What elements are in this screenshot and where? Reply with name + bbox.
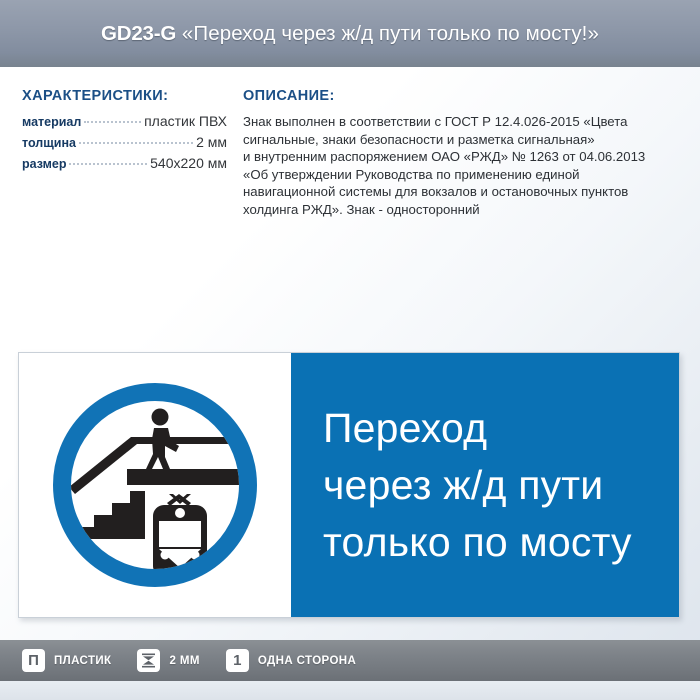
train-left-light <box>161 551 170 560</box>
train-windshield <box>159 521 201 547</box>
characteristic-value: 2 мм <box>196 134 227 150</box>
pedestrian-bridge-over-railway-icon <box>19 353 291 617</box>
bridge-rail <box>131 437 239 444</box>
footer-label-sides: ОДНА СТОРОНА <box>258 655 356 667</box>
one-side-icon: 1 <box>226 649 249 672</box>
person-body <box>146 428 179 469</box>
characteristics-section: ХАРАКТЕРИСТИКИ: материал пластик ПВХ тол… <box>22 88 227 176</box>
description-line: Знак выполнен в соответствии с ГОСТ Р 12… <box>243 113 683 131</box>
characteristic-label: толщина <box>22 136 76 150</box>
sign-preview: Переход через ж/д пути только по мосту <box>18 352 680 618</box>
product-code: GD23-G <box>101 22 176 45</box>
bridge-deck <box>127 469 239 485</box>
header-title-group: GD23-G «Переход через ж/д пути только по… <box>101 22 599 46</box>
characteristic-row-thickness: толщина 2 мм <box>22 134 227 150</box>
description-section: ОПИСАНИЕ: Знак выполнен в соответствии с… <box>243 88 683 219</box>
characteristic-value: пластик ПВХ <box>144 113 227 129</box>
sign-pictogram-area <box>19 353 291 617</box>
product-card: GD23-G «Переход через ж/д пути только по… <box>0 0 700 700</box>
description-line: холдинга РЖД». Знак - односторонний <box>243 201 683 219</box>
footer-item-sides: 1 ОДНА СТОРОНА <box>226 649 356 672</box>
one-side-icon-glyph: 1 <box>233 653 241 668</box>
footer-bottom-strip <box>0 681 700 700</box>
characteristic-label: материал <box>22 115 81 129</box>
footer-spec-bar: П ПЛАСТИК 2 ММ 1 ОДНА СТОРОНА <box>0 640 700 681</box>
train-top-light <box>175 508 185 518</box>
thickness-icon <box>137 649 160 672</box>
thickness-icon-glyph <box>141 653 156 668</box>
characteristics-heading: ХАРАКТЕРИСТИКИ: <box>22 88 227 104</box>
description-line: навигационной системы для вокзалов и ост… <box>243 183 683 201</box>
plastic-icon-glyph: П <box>28 653 39 668</box>
stairs-shape <box>76 491 145 539</box>
dot-leader <box>79 142 193 144</box>
sign-text-line: Переход <box>323 400 679 457</box>
footer-label-thickness: 2 ММ <box>169 655 199 667</box>
dot-leader <box>84 121 141 123</box>
description-line: сигнальные, знаки безопасности и разметк… <box>243 131 683 149</box>
dot-leader <box>69 163 147 165</box>
characteristic-value: 540x220 мм <box>150 155 227 171</box>
sign-text-line: через ж/д пути <box>323 457 679 514</box>
sign-text-line: только по мосту <box>323 514 679 571</box>
description-heading: ОПИСАНИЕ: <box>243 88 683 104</box>
characteristic-label: размер <box>22 157 66 171</box>
description-line: «Об утверждении Руководства по применени… <box>243 166 683 184</box>
characteristic-row-material: материал пластик ПВХ <box>22 113 227 129</box>
footer-item-material: П ПЛАСТИК <box>22 649 111 672</box>
person-head <box>152 409 169 426</box>
plastic-icon: П <box>22 649 45 672</box>
characteristic-row-size: размер 540x220 мм <box>22 155 227 171</box>
page-header: GD23-G «Переход через ж/д пути только по… <box>0 0 700 67</box>
sign-text-panel: Переход через ж/д пути только по мосту <box>291 353 679 617</box>
description-line: и внутренним распоряжением ОАО «РЖД» № 1… <box>243 148 683 166</box>
footer-item-thickness: 2 ММ <box>137 649 199 672</box>
page-title: «Переход через ж/д пути только по мосту!… <box>182 22 599 45</box>
footer-label-material: ПЛАСТИК <box>54 655 111 667</box>
